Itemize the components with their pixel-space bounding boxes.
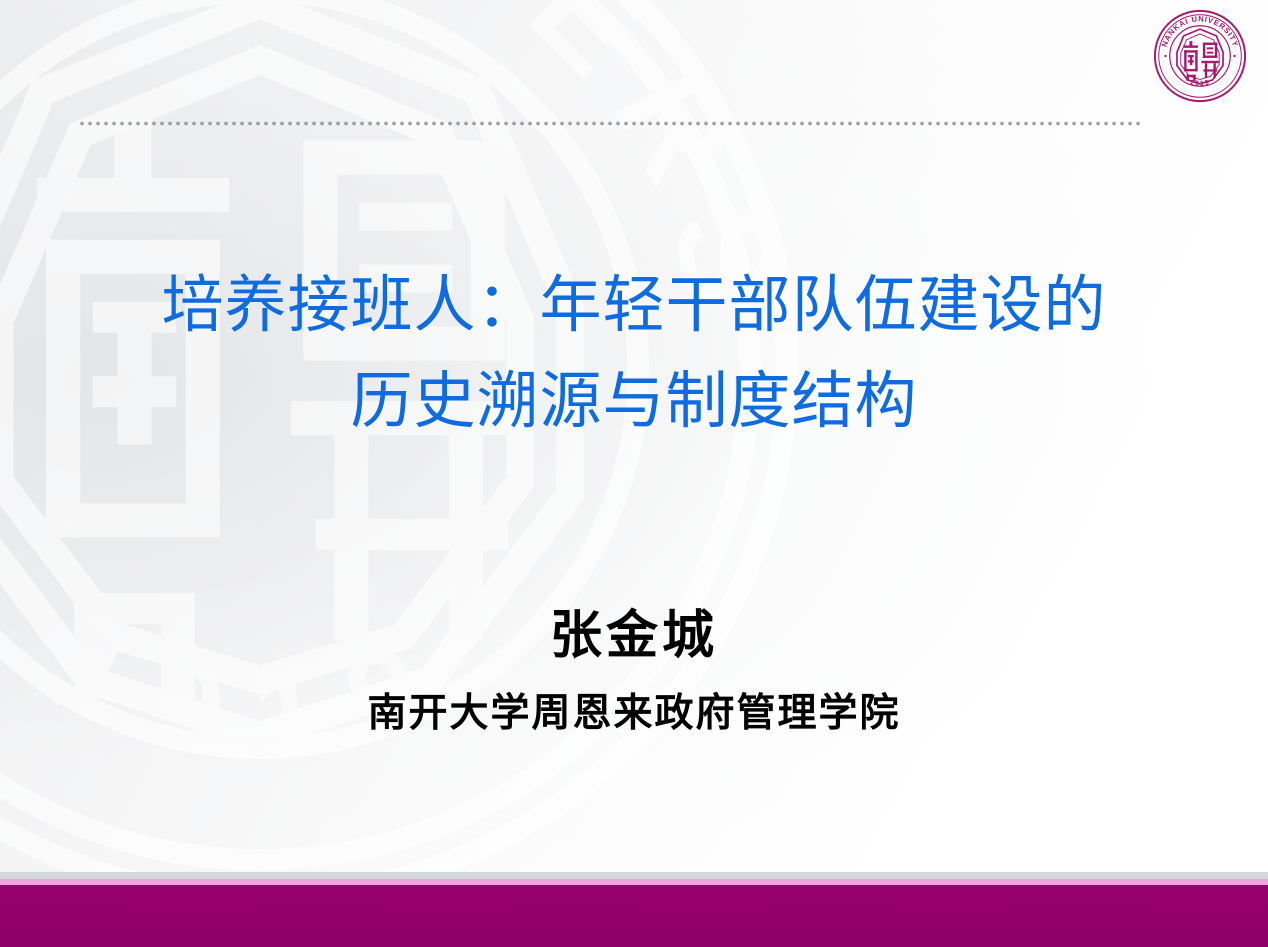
page-title: 培养接班人：年轻干部队伍建设的 历史溯源与制度结构 <box>0 258 1268 450</box>
header-dotted-rule <box>78 121 1142 126</box>
footer-gray-line <box>0 872 1268 879</box>
nankai-university-seal-icon: NANKAI UNIVERSITY 1919 <box>1152 8 1248 104</box>
author-block: 张金城 南开大学周恩来政府管理学院 <box>0 600 1268 742</box>
footer-accent-band <box>0 885 1268 947</box>
title-line-1: 培养接班人：年轻干部队伍建设的 <box>0 258 1268 354</box>
author-name: 张金城 <box>0 600 1268 674</box>
svg-text:NANKAI UNIVERSITY: NANKAI UNIVERSITY <box>1160 14 1240 48</box>
title-slide: NANKAI UNIVERSITY 1919 <box>0 0 1268 947</box>
slide-background-highlight <box>0 0 1268 947</box>
title-line-2: 历史溯源与制度结构 <box>0 354 1268 450</box>
author-affiliation: 南开大学周恩来政府管理学院 <box>0 686 1268 742</box>
